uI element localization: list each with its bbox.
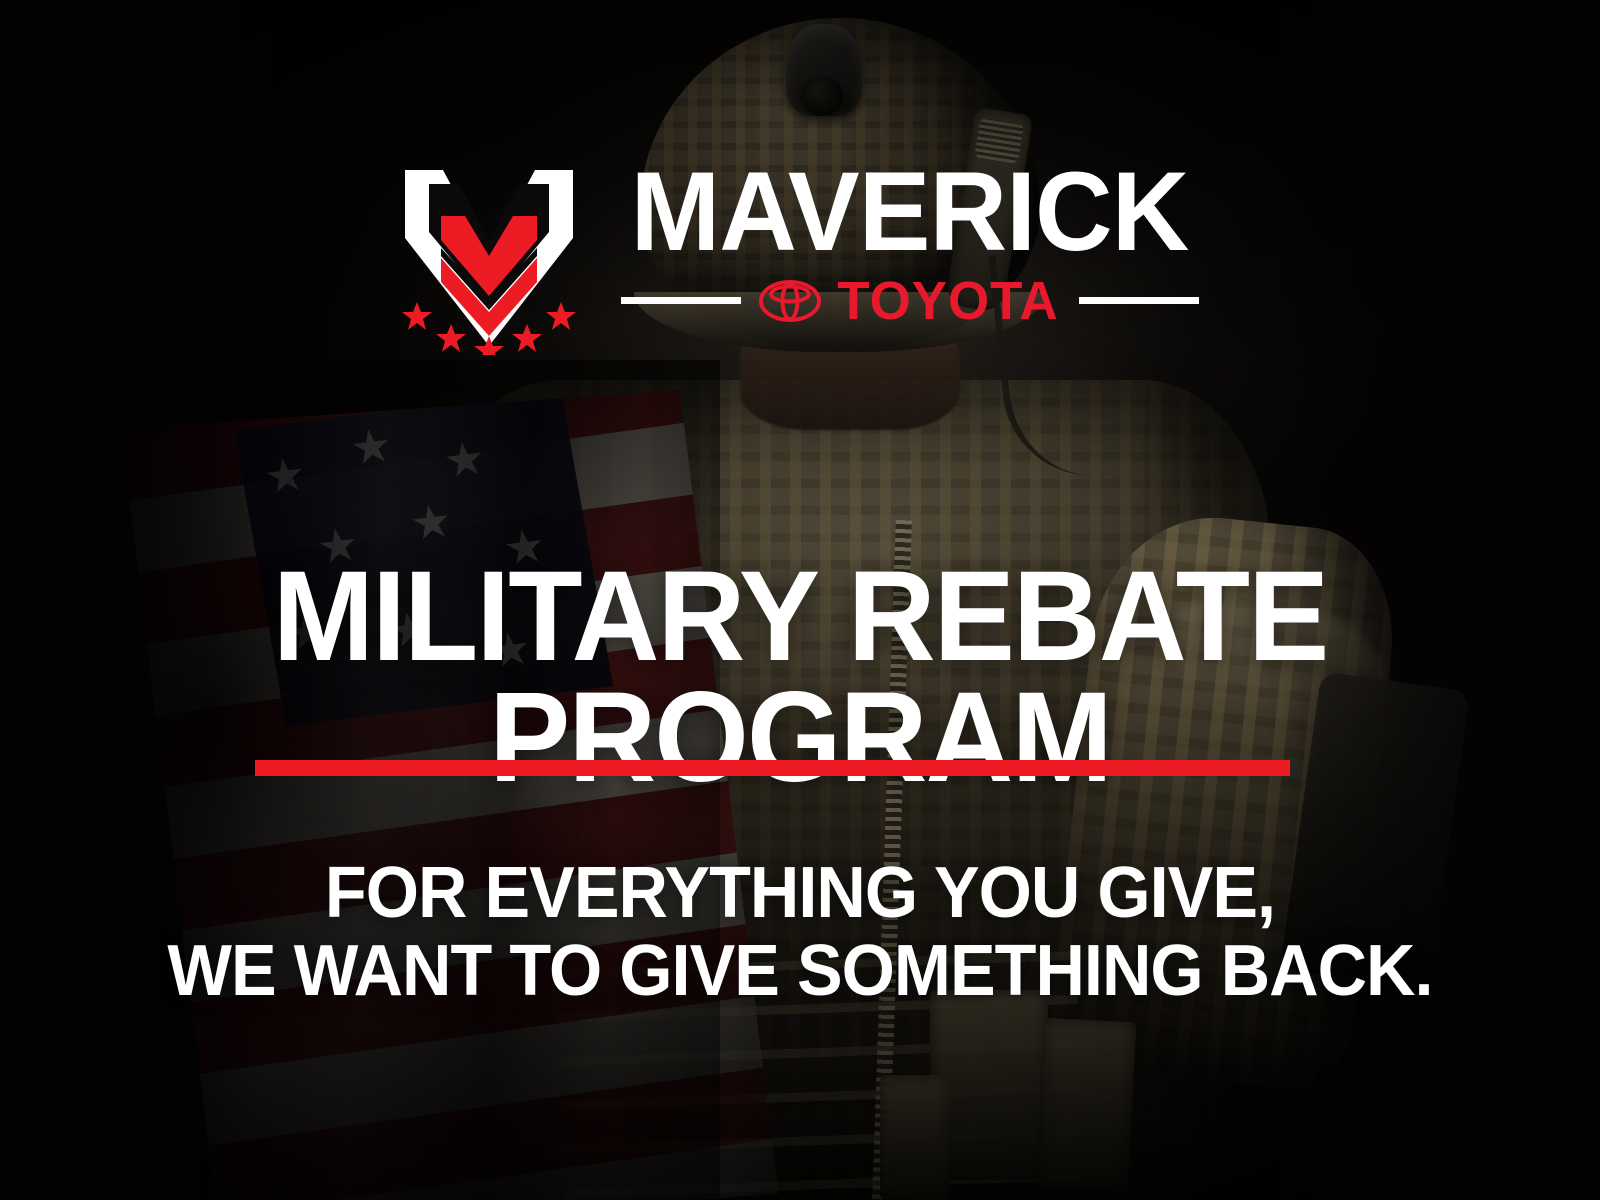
headline-line-2: PROGRAM [40,677,1560,799]
lockup-rule-right [1079,297,1199,304]
toyota-row: TOYOTA [619,274,1200,328]
toyota-wordmark: TOYOTA [837,274,1058,328]
maverick-chevron-emblem [399,160,579,355]
toyota-oval-icon [759,280,821,322]
toyota-lockup: TOYOTA [759,274,1061,328]
brand-wordblock: MAVERICK TOYOTA [619,160,1200,328]
lockup-rule-left [621,297,741,304]
red-divider-rule [255,760,1290,776]
brand-lockup[interactable]: MAVERICK TOYOTA [0,160,1600,355]
hero-content: MAVERICK TOYOTA MILITARY R [0,0,1600,1200]
hero-banner: ★ ★ ★ ★ ★ ★ ★ ★ ★ [0,0,1600,1200]
subheadline: FOR EVERYTHING YOU GIVE, WE WANT TO GIVE… [40,855,1560,1011]
brand-name: MAVERICK [631,166,1189,258]
subheadline-line-2: WE WANT TO GIVE SOMETHING BACK. [40,933,1560,1011]
subheadline-line-1: FOR EVERYTHING YOU GIVE, [325,853,1275,933]
